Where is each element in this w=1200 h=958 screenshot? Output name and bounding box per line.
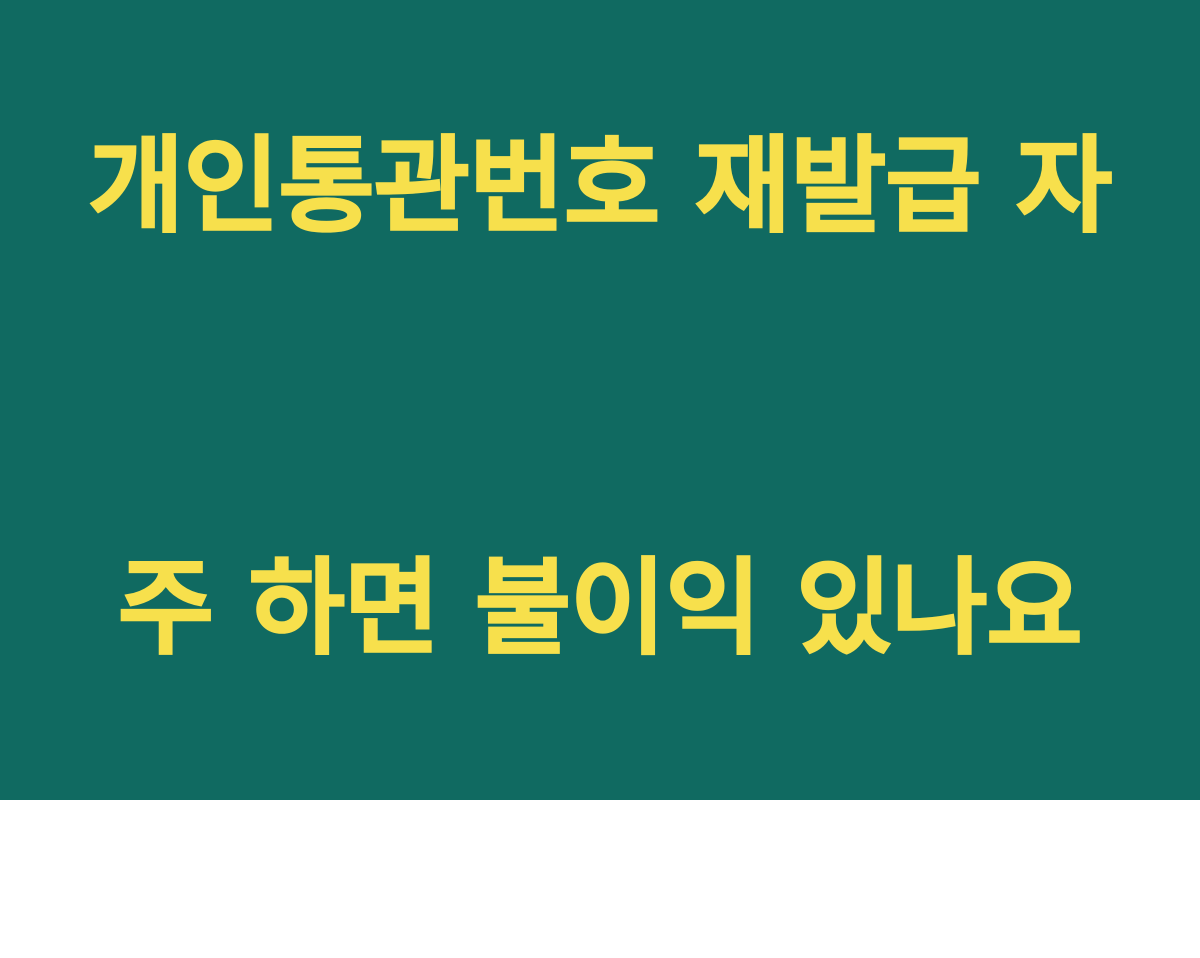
headline-line-2: 주 하면 불이익 있나요 — [60, 538, 1140, 678]
headline-text: 개인통관번호 재발급 자 주 하면 불이익 있나요 — [60, 0, 1140, 958]
banner-canvas: 개인통관번호 재발급 자 주 하면 불이익 있나요 — [0, 0, 1200, 800]
headline-line-1: 개인통관번호 재발급 자 — [60, 116, 1140, 256]
